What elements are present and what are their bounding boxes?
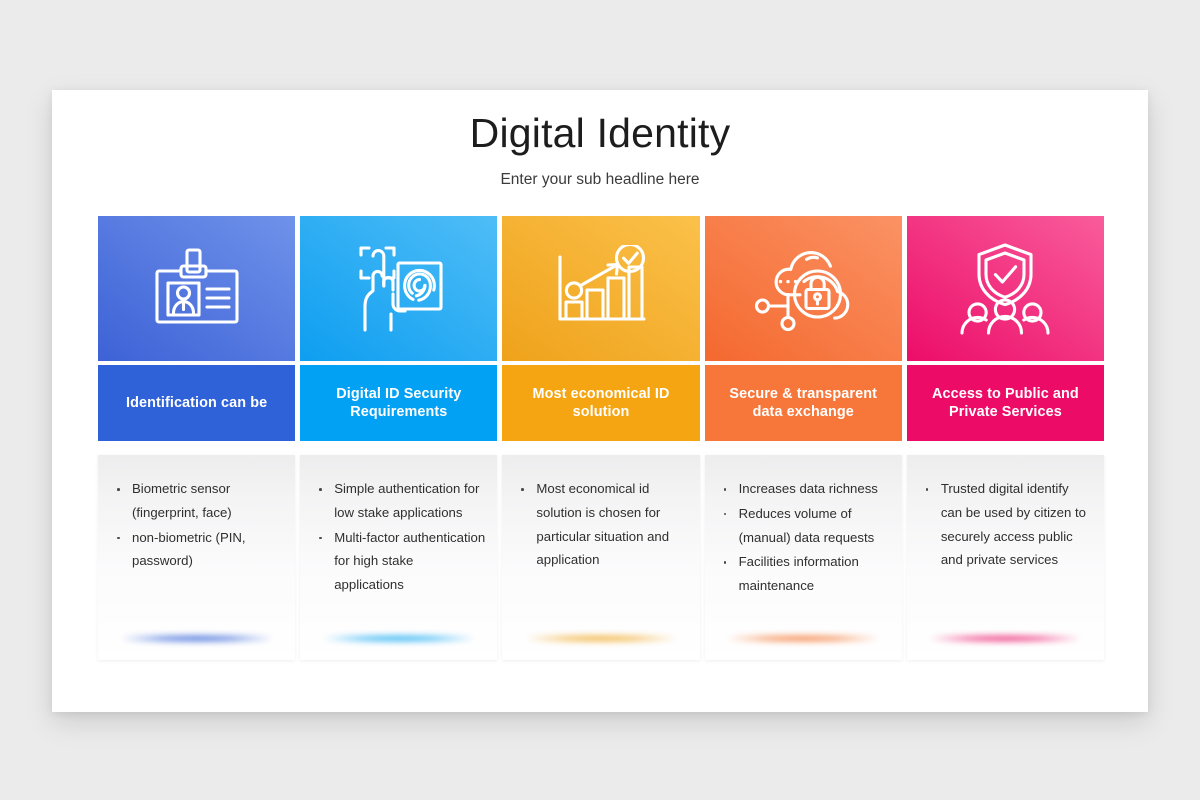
- page-subtitle: Enter your sub headline here: [52, 171, 1148, 189]
- card-accent-glow-2: [324, 635, 474, 642]
- column-card-4: Increases data richnessReduces volume of…: [705, 455, 902, 660]
- bullet-item: Multi-factor authentication for high sta…: [310, 526, 485, 597]
- column-card-5: Trusted digital identify can be used by …: [907, 455, 1104, 660]
- column-heading-band-4[interactable]: Secure & transparent data exchange: [705, 365, 902, 441]
- bullet-list-3: Most economical id solution is chosen fo…: [502, 455, 699, 572]
- icon-tile-4: [705, 216, 902, 361]
- card-accent-glow-3: [526, 635, 676, 642]
- column-4: Secure & transparent data exchangeIncrea…: [705, 216, 902, 660]
- bullet-item: Simple authentication for low stake appl…: [310, 477, 485, 525]
- bullet-item: Trusted digital identify can be used by …: [917, 477, 1092, 572]
- column-5: Access to Public and Private ServicesTru…: [907, 216, 1104, 660]
- column-heading-band-1[interactable]: Identification can be: [98, 365, 295, 441]
- bullet-item: non-biometric (PIN, password): [108, 526, 283, 574]
- column-1: Identification can beBiometric sensor (f…: [98, 216, 295, 660]
- fingerprint-scan-icon: [353, 242, 445, 336]
- bullet-item: Biometric sensor (fingerprint, face): [108, 477, 283, 525]
- column-heading-band-5[interactable]: Access to Public and Private Services: [907, 365, 1104, 441]
- column-heading-3: Most economical ID solution: [512, 385, 689, 422]
- icon-tile-2: [300, 216, 497, 361]
- column-card-3: Most economical id solution is chosen fo…: [502, 455, 699, 660]
- column-2: Digital ID Security RequirementsSimple a…: [300, 216, 497, 660]
- column-group: Identification can beBiometric sensor (f…: [98, 216, 1104, 660]
- column-heading-2: Digital ID Security Requirements: [310, 385, 487, 422]
- bullet-list-5: Trusted digital identify can be used by …: [907, 455, 1104, 572]
- slide-canvas: Digital Identity Enter your sub headline…: [52, 90, 1148, 712]
- bullet-list-2: Simple authentication for low stake appl…: [300, 455, 497, 597]
- card-accent-glow-4: [728, 635, 878, 642]
- column-3: Most economical ID solutionMost economic…: [502, 216, 699, 660]
- bullet-item: Facilities information maintenance: [715, 550, 890, 598]
- column-heading-band-3[interactable]: Most economical ID solution: [502, 365, 699, 441]
- cloud-lock-icon: [754, 244, 852, 334]
- screenshot-canvas: Digital Identity Enter your sub headline…: [0, 0, 1200, 800]
- column-card-2: Simple authentication for low stake appl…: [300, 455, 497, 660]
- column-heading-4: Secure & transparent data exchange: [715, 385, 892, 422]
- card-accent-glow-5: [930, 635, 1080, 642]
- bullet-item: Reduces volume of (manual) data requests: [715, 502, 890, 550]
- id-badge-icon: [149, 246, 245, 332]
- icon-tile-3: [502, 216, 699, 361]
- bullet-item: Most economical id solution is chosen fo…: [512, 477, 687, 572]
- card-accent-glow-1: [122, 635, 272, 642]
- icon-tile-1: [98, 216, 295, 361]
- growth-chart-check-icon: [554, 245, 648, 333]
- bullet-item: Increases data richness: [715, 477, 890, 501]
- column-heading-band-2[interactable]: Digital ID Security Requirements: [300, 365, 497, 441]
- shield-people-icon: [956, 243, 1054, 335]
- bullet-list-4: Increases data richnessReduces volume of…: [705, 455, 902, 598]
- column-heading-5: Access to Public and Private Services: [917, 385, 1094, 422]
- icon-tile-5: [907, 216, 1104, 361]
- page-title: Digital Identity: [52, 110, 1148, 157]
- column-heading-1: Identification can be: [126, 394, 267, 412]
- column-card-1: Biometric sensor (fingerprint, face)non-…: [98, 455, 295, 660]
- bullet-list-1: Biometric sensor (fingerprint, face)non-…: [98, 455, 295, 573]
